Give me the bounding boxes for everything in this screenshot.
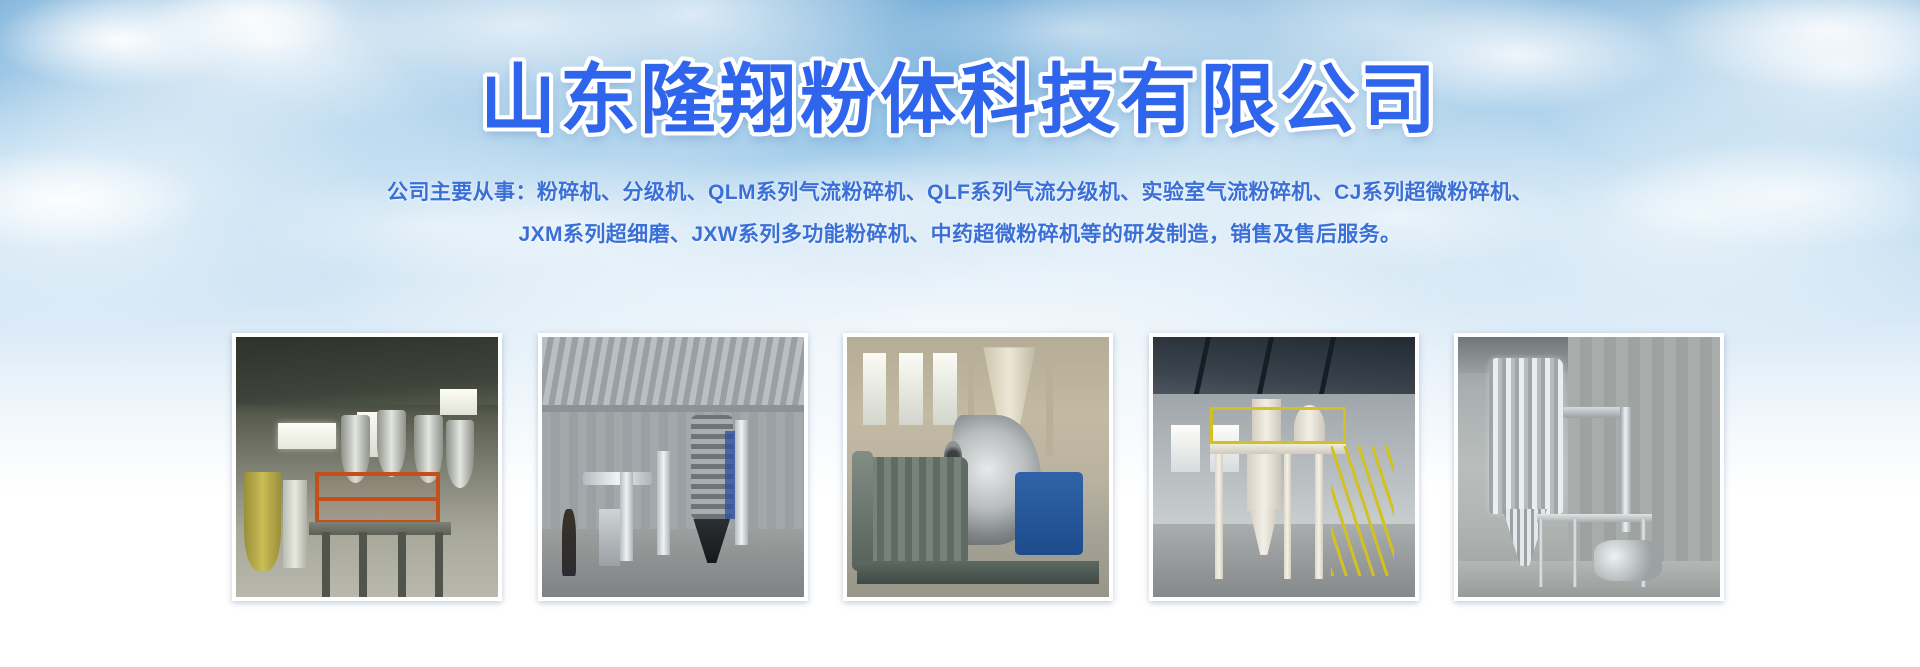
- blue-gearbox: [1015, 472, 1083, 555]
- yellow-railing: [1210, 407, 1346, 443]
- gallery-photo-3[interactable]: [843, 333, 1113, 601]
- yellow-tank: [244, 472, 281, 571]
- stainless-vessel: [1489, 358, 1562, 514]
- support-column: [359, 532, 367, 597]
- electric-motor: [863, 457, 968, 566]
- duct: [283, 480, 307, 568]
- cyclone: [446, 420, 475, 488]
- workshop-roof: [542, 337, 804, 410]
- platform-deck: [309, 522, 450, 535]
- window: [933, 353, 957, 426]
- machine-base: [857, 561, 1098, 584]
- roof-beam: [542, 405, 804, 413]
- support-column: [435, 532, 443, 597]
- window: [899, 353, 923, 426]
- pipe: [657, 451, 670, 555]
- window: [1171, 425, 1200, 472]
- pipe: [583, 472, 651, 485]
- photo-2-image: [542, 337, 804, 597]
- workshop-floor: [542, 529, 804, 597]
- gallery-photo-1[interactable]: [232, 333, 502, 601]
- support-leg: [1215, 454, 1223, 579]
- support-leg: [1539, 519, 1543, 587]
- photo-4-image: [1153, 337, 1415, 597]
- window: [863, 353, 887, 426]
- gallery-photo-2[interactable]: [538, 333, 808, 601]
- window: [440, 389, 477, 415]
- yellow-stairs: [1331, 446, 1394, 576]
- classifier: [1247, 454, 1281, 511]
- photo-3-image: [847, 337, 1109, 597]
- photo-1-image: [236, 337, 498, 597]
- company-banner: 山东隆翔粉体科技有限公司 公司主要从事：粉碎机、分级机、QLM系列气流粉碎机、Q…: [0, 0, 1920, 667]
- support-leg: [1573, 519, 1577, 587]
- gallery-photo-4[interactable]: [1149, 333, 1419, 601]
- support-post: [1046, 353, 1053, 457]
- orange-railing: [315, 472, 441, 524]
- support-leg: [1284, 454, 1292, 579]
- company-description: 公司主要从事：粉碎机、分级机、QLM系列气流粉碎机、QLF系列气流分级机、实验室…: [0, 172, 1920, 256]
- control-cabinet: [599, 509, 620, 566]
- workshop-floor: [1458, 561, 1720, 597]
- workshop-wall: [542, 412, 804, 529]
- support-column: [398, 532, 406, 597]
- cyclone: [377, 410, 406, 478]
- gallery-photo-5[interactable]: [1454, 333, 1724, 601]
- description-line-1: 公司主要从事：粉碎机、分级机、QLM系列气流粉碎机、QLF系列气流分级机、实验室…: [0, 172, 1920, 214]
- workshop-roof: [1153, 337, 1415, 394]
- support-leg: [1315, 454, 1323, 579]
- valve-assembly: [1594, 540, 1662, 582]
- photo-5-image: [1458, 337, 1720, 597]
- pipe: [620, 472, 633, 560]
- support-column: [322, 532, 330, 597]
- window: [278, 423, 336, 449]
- support-frame: [1537, 514, 1652, 522]
- pipe: [735, 420, 748, 545]
- worker: [562, 509, 575, 577]
- description-line-2: JXM系列超细磨、JXW系列多功能粉碎机、中药超微粉碎机等的研发制造，销售及售后…: [0, 214, 1920, 256]
- platform-deck: [1210, 444, 1346, 454]
- product-photo-gallery: [232, 333, 1724, 601]
- page-title: 山东隆翔粉体科技有限公司: [0, 58, 1920, 144]
- motor-end-cap: [852, 451, 873, 571]
